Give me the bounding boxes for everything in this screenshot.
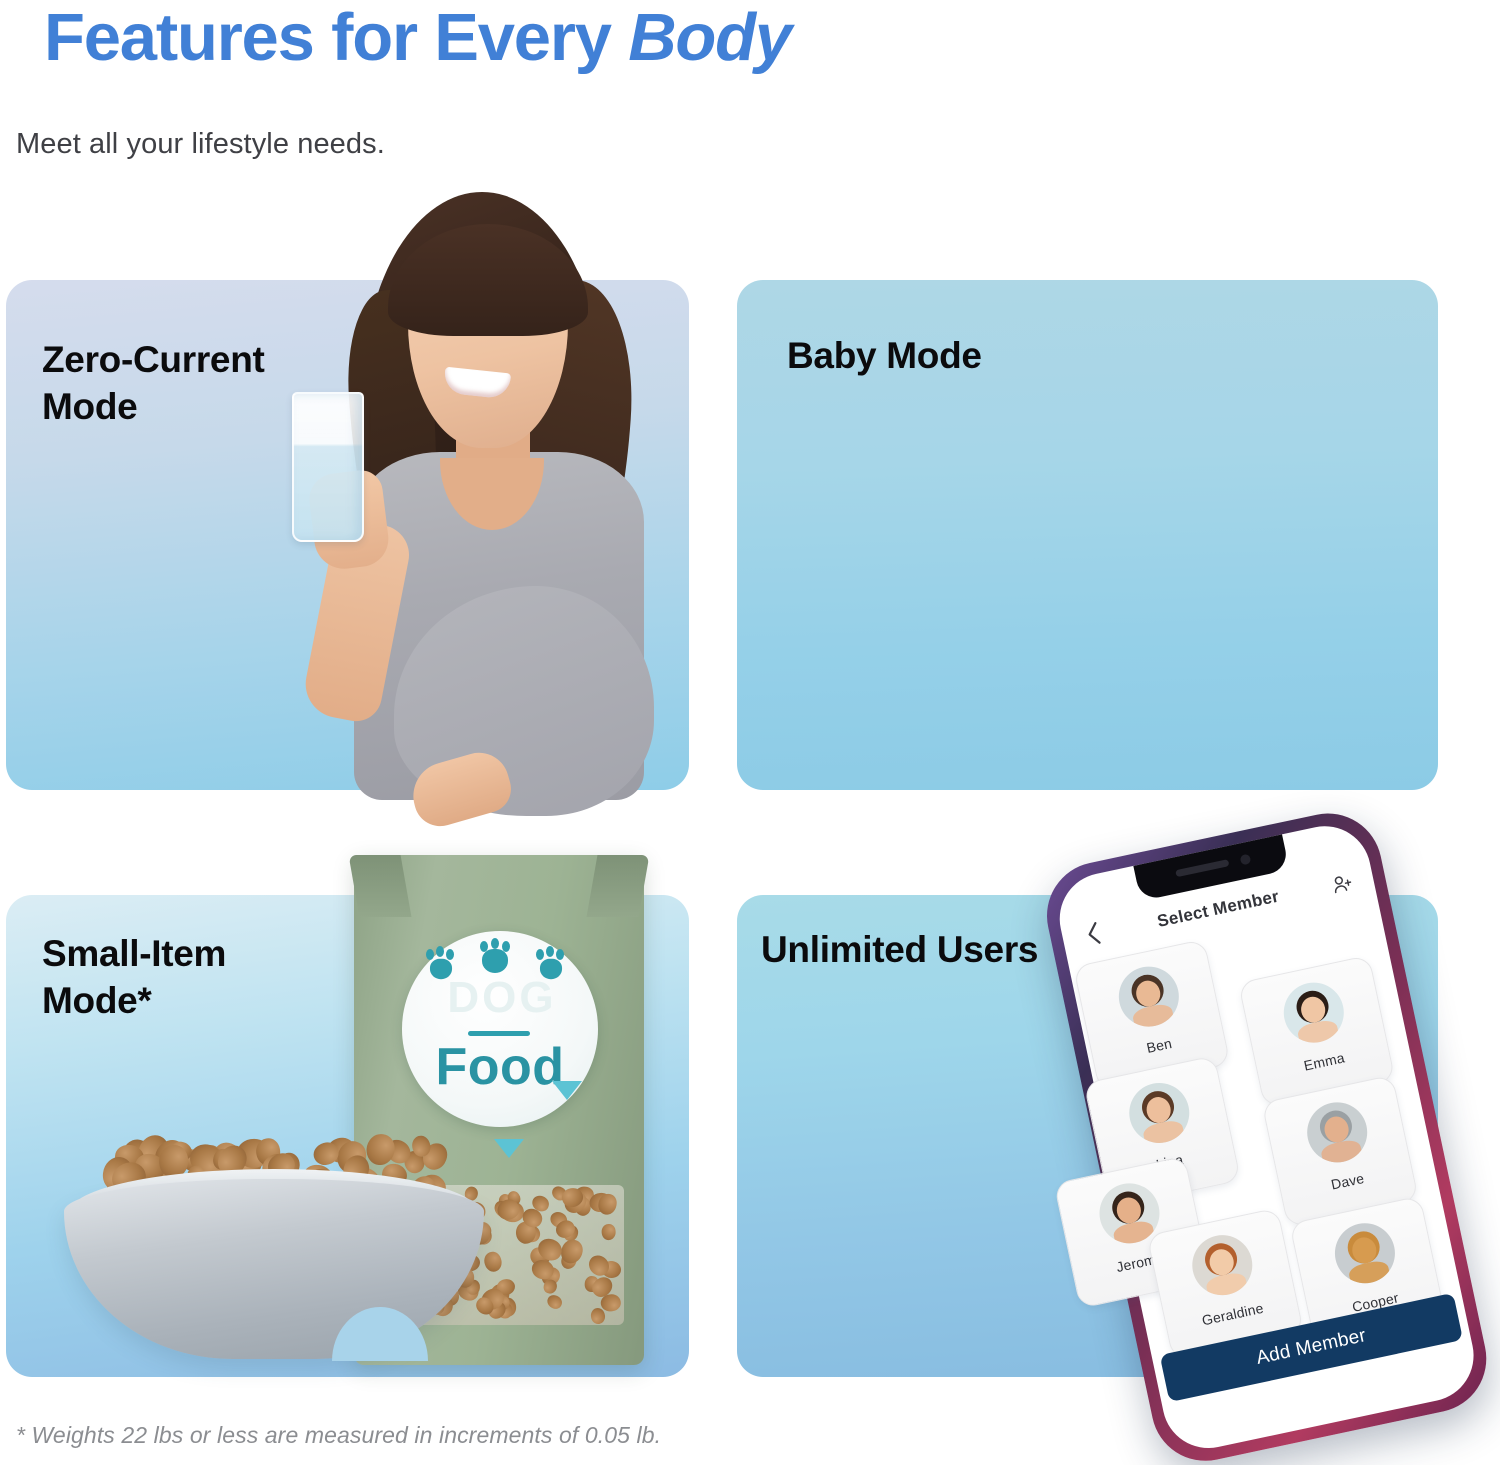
bag-brand-dog: DOG <box>426 973 578 1023</box>
card-title: Unlimited Users <box>761 926 1101 973</box>
feature-card-small-item-mode: Small-Item Mode* <box>6 895 689 1377</box>
card-title: Zero-Current Mode <box>42 336 372 431</box>
avatar <box>1278 977 1349 1048</box>
pregnant-woman-image <box>276 170 696 800</box>
feature-grid-page: Features for Every Body Meet all your li… <box>0 0 1500 1465</box>
page-title: Features for Every Body <box>44 2 791 74</box>
avatar <box>1113 961 1184 1032</box>
avatar <box>1302 1097 1373 1168</box>
dog-food-image: DOG Food <box>294 835 714 1415</box>
avatar <box>1329 1218 1400 1289</box>
footnote-text: * Weights 22 lbs or less are measured in… <box>16 1422 661 1449</box>
page-title-main: Features for Every <box>44 0 628 75</box>
triangle-icon <box>552 1081 582 1100</box>
avatar <box>1187 1230 1258 1301</box>
member-name: Dave <box>1280 1160 1414 1204</box>
dog-bowl <box>64 1135 484 1385</box>
member-name: Emma <box>1257 1040 1391 1084</box>
card-title: Baby Mode <box>787 332 1117 379</box>
add-person-icon[interactable] <box>1330 871 1356 897</box>
phone-mockup: Select Member BenEmmaLinaJeromeDaveGeral… <box>900 820 1500 1460</box>
page-subtitle: Meet all your lifestyle needs. <box>16 128 385 161</box>
triangle-icon <box>494 1139 524 1158</box>
avatar <box>1124 1077 1195 1148</box>
feature-card-baby-mode: Baby Mode <box>737 280 1438 790</box>
card-title: Small-Item Mode* <box>42 930 372 1025</box>
add-member-label: Add Member <box>1254 1325 1368 1370</box>
page-title-emphasis: Body <box>628 0 791 75</box>
feature-card-zero-current: Zero-Current Mode <box>6 280 689 790</box>
